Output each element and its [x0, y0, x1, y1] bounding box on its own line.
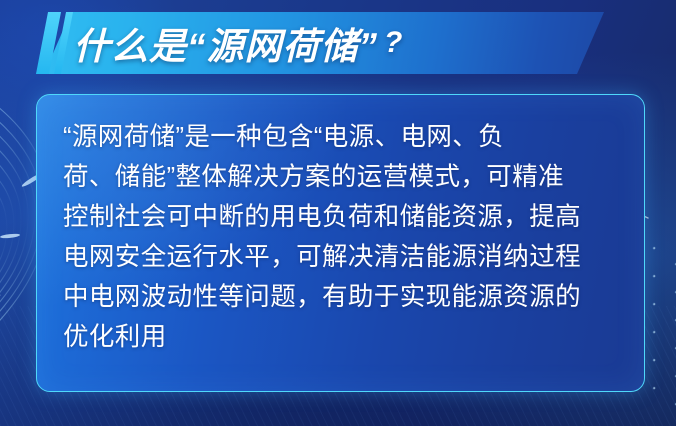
paragraph-line: “源网荷储”是一种包含“电源、电网、负 [63, 117, 618, 157]
title-banner: 什么是“源网荷储” ? [0, 12, 676, 74]
definition-paragraph: “源网荷储”是一种包含“电源、电网、负 荷、储能”整体解决方案的运营模式，可精准… [37, 95, 644, 357]
infographic-slide: 什么是“源网荷储” ? “源网荷储”是一种包含“电源、电网、负 荷、储能”整体解… [0, 0, 676, 426]
paragraph-line: 荷、储能”整体解决方案的运营模式，可精准 [63, 157, 618, 197]
page-title-row: 什么是“源网荷储” ? [73, 12, 403, 74]
page-title-question-mark: ? [384, 26, 403, 60]
paragraph-line: 优化利用 [63, 317, 618, 357]
paragraph-line: 电网安全运行水平，可解决清洁能源消纳过程 [63, 237, 618, 277]
paragraph-line: 中电网波动性等问题，有助于实现能源资源的 [63, 277, 618, 317]
page-title: 什么是“源网荷储” [73, 16, 378, 70]
paragraph-line: 控制社会可中断的用电负荷和储能资源，提高 [63, 197, 618, 237]
definition-card: “源网荷储”是一种包含“电源、电网、负 荷、储能”整体解决方案的运营模式，可精准… [36, 94, 645, 392]
